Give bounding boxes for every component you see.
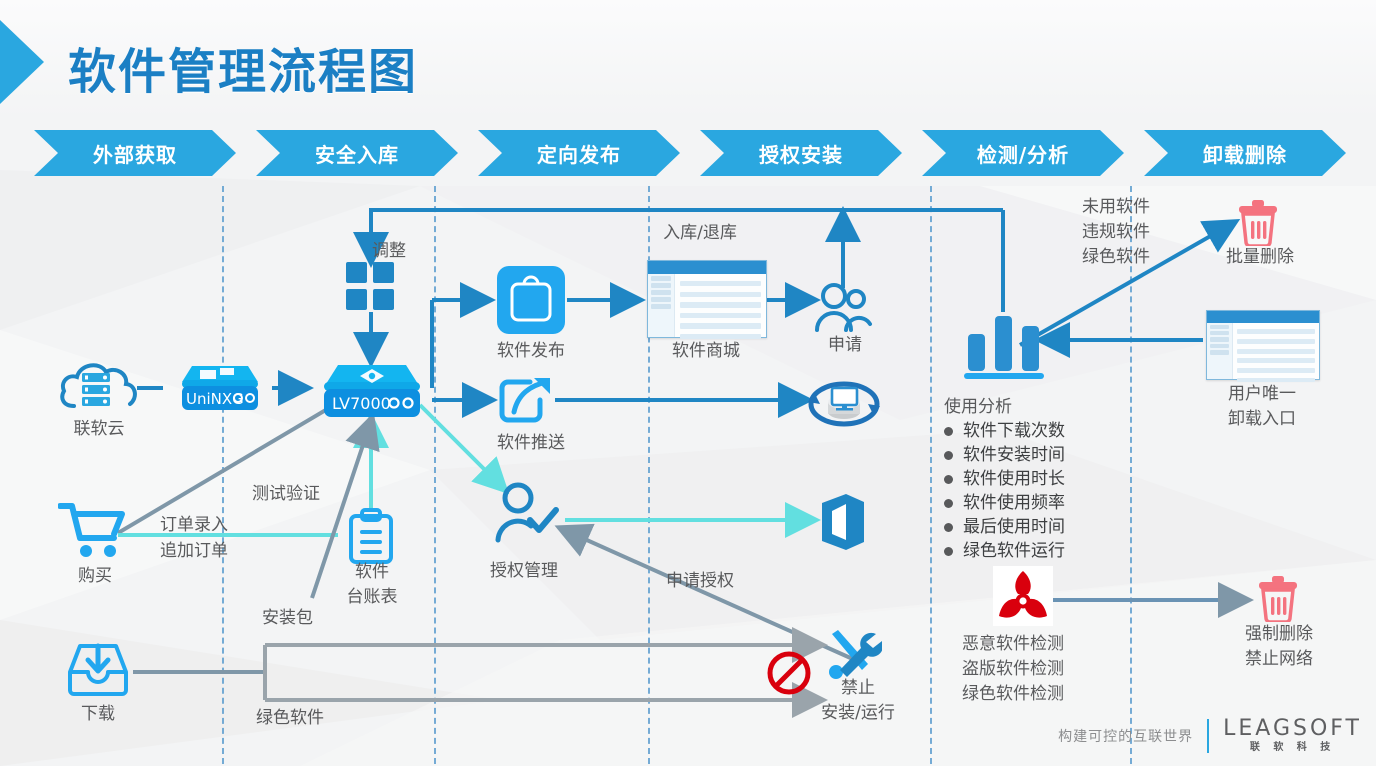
brand-logo: LEAGSOFT 联 软 科 技 bbox=[1223, 717, 1362, 754]
node-label-download: 下载 bbox=[52, 703, 144, 726]
annotation-detect-types: 恶意软件检测 盗版软件检测 绿色软件检测 bbox=[962, 632, 1064, 707]
lane-separator-5 bbox=[1130, 186, 1132, 764]
shopping-cart-icon bbox=[58, 500, 128, 560]
brand-name-en: LEAGSOFT bbox=[1223, 717, 1362, 741]
list-item-label: 软件下载次数 bbox=[963, 419, 1065, 443]
screenshot-sidebar bbox=[648, 274, 675, 337]
list-item: 软件使用频率 bbox=[944, 491, 1130, 515]
list-item: 软件使用时长 bbox=[944, 467, 1130, 491]
node-label-push: 软件推送 bbox=[471, 432, 591, 455]
edge-label-install-pkg: 安装包 bbox=[262, 607, 313, 630]
windows-tiles-icon bbox=[346, 262, 396, 312]
usage-analysis-title: 使用分析 bbox=[944, 392, 1130, 417]
screenshot-topbar bbox=[648, 261, 766, 274]
node-label-mall: 软件商城 bbox=[646, 340, 766, 363]
trash-icon bbox=[1236, 200, 1280, 246]
node-label-forbid: 禁止 安装/运行 bbox=[805, 676, 911, 726]
diagram-canvas: 软件管理流程图 外部获取 安全入库 定向发布 授权安装 检测/分析 卸载删除 bbox=[0, 0, 1376, 766]
terminal-sync-icon bbox=[806, 374, 882, 430]
step-chevron-0[interactable]: 外部获取 bbox=[34, 130, 236, 176]
bar-chart-icon bbox=[962, 302, 1048, 380]
edge-label-green-software: 绿色软件 bbox=[256, 707, 324, 730]
step-label: 外部获取 bbox=[93, 139, 177, 168]
node-label-ledger: 软件 台账表 bbox=[326, 560, 418, 610]
node-label-force-delete: 强制删除 禁止网络 bbox=[1214, 622, 1344, 672]
list-item-label: 绿色软件运行 bbox=[963, 539, 1065, 563]
edge-label-in-out-stock: 入库/退库 bbox=[620, 222, 780, 245]
step-label: 检测/分析 bbox=[977, 139, 1069, 168]
bullet-dot-icon bbox=[944, 427, 953, 436]
shopping-bag-icon bbox=[497, 266, 565, 334]
bullet-dot-icon bbox=[944, 451, 953, 460]
list-item-label: 软件使用时长 bbox=[963, 467, 1065, 491]
software-mall-screenshot[interactable] bbox=[647, 260, 767, 338]
edge-label-order-entry: 订单录入 追加订单 bbox=[160, 512, 228, 564]
list-item: 软件下载次数 bbox=[944, 419, 1130, 443]
step-chevron-5[interactable]: 卸载删除 bbox=[1144, 130, 1346, 176]
page-title: 软件管理流程图 bbox=[68, 32, 418, 102]
usage-analysis-panel: 使用分析 软件下载次数 软件安装时间 软件使用时长 软件使用频率 最后使用时间 … bbox=[944, 392, 1130, 563]
users-icon bbox=[812, 282, 874, 332]
edge-label-test-verify: 测试验证 bbox=[252, 483, 320, 506]
step-label: 授权安装 bbox=[759, 139, 843, 168]
lane-separator-1 bbox=[222, 186, 224, 764]
footer-divider bbox=[1207, 719, 1209, 753]
bullet-dot-icon bbox=[944, 547, 953, 556]
edge-label-adjust: 调整 bbox=[372, 240, 406, 263]
screenshot-rows bbox=[1233, 323, 1319, 379]
footer: 构建可控的互联世界 LEAGSOFT 联 软 科 技 bbox=[1058, 717, 1362, 754]
uninxg-appliance-icon: UniNXG bbox=[168, 360, 272, 420]
office-icon bbox=[818, 494, 866, 550]
node-label-batch-delete: 批量删除 bbox=[1200, 246, 1320, 269]
user-check-icon bbox=[490, 482, 560, 544]
lane-separator-2 bbox=[434, 186, 436, 764]
step-label: 卸载删除 bbox=[1203, 139, 1287, 168]
list-item: 最后使用时间 bbox=[944, 515, 1130, 539]
screenshot-body bbox=[648, 274, 766, 337]
cloud-server-icon bbox=[58, 352, 140, 414]
screenshot-topbar bbox=[1207, 311, 1319, 323]
download-tray-icon bbox=[66, 640, 130, 698]
screenshot-sidebar bbox=[1207, 323, 1233, 379]
screenshot-body bbox=[1207, 323, 1319, 379]
triangle-arrow-icon bbox=[0, 18, 62, 106]
node-label-cart: 购买 bbox=[50, 565, 140, 588]
tools-icon bbox=[826, 628, 882, 680]
brand-name-cn: 联 软 科 技 bbox=[1250, 741, 1335, 754]
process-steps: 外部获取 安全入库 定向发布 授权安装 检测/分析 卸载删除 bbox=[34, 130, 1354, 176]
node-label-apply: 申请 bbox=[800, 334, 890, 357]
list-item-label: 最后使用时间 bbox=[963, 515, 1065, 539]
annotation-detect-targets: 未用软件 违规软件 绿色软件 bbox=[1082, 195, 1150, 270]
biohazard-icon bbox=[993, 566, 1053, 626]
usage-analysis-list: 软件下载次数 软件安装时间 软件使用时长 软件使用频率 最后使用时间 绿色软件运… bbox=[944, 419, 1130, 563]
uninstall-portal-screenshot[interactable] bbox=[1206, 310, 1320, 380]
edge-label-apply-auth: 申请授权 bbox=[666, 570, 734, 593]
bullet-dot-icon bbox=[944, 475, 953, 484]
share-arrow-icon bbox=[496, 374, 556, 428]
step-label: 安全入库 bbox=[315, 139, 399, 168]
step-chevron-3[interactable]: 授权安装 bbox=[700, 130, 902, 176]
step-chevron-2[interactable]: 定向发布 bbox=[478, 130, 680, 176]
node-label-publish: 软件发布 bbox=[471, 340, 591, 363]
node-label-auth: 授权管理 bbox=[466, 560, 582, 583]
trash-icon bbox=[1256, 576, 1300, 622]
lv7000-appliance-icon: LV7000 bbox=[310, 360, 434, 426]
bullet-dot-icon bbox=[944, 499, 953, 508]
bullet-dot-icon bbox=[944, 523, 953, 532]
screenshot-rows bbox=[675, 274, 766, 337]
step-label: 定向发布 bbox=[537, 139, 621, 168]
clipboard-list-icon bbox=[347, 508, 395, 566]
list-item: 软件安装时间 bbox=[944, 443, 1130, 467]
list-item-label: 软件使用频率 bbox=[963, 491, 1065, 515]
list-item: 绿色软件运行 bbox=[944, 539, 1130, 563]
node-label-cloud: 联软云 bbox=[44, 418, 154, 441]
footer-slogan: 构建可控的互联世界 bbox=[1058, 726, 1193, 746]
step-chevron-4[interactable]: 检测/分析 bbox=[922, 130, 1124, 176]
step-chevron-1[interactable]: 安全入库 bbox=[256, 130, 458, 176]
list-item-label: 软件安装时间 bbox=[963, 443, 1065, 467]
lane-separator-4 bbox=[930, 186, 932, 764]
node-label-uninstall-portal: 用户唯一 卸载入口 bbox=[1198, 382, 1326, 432]
